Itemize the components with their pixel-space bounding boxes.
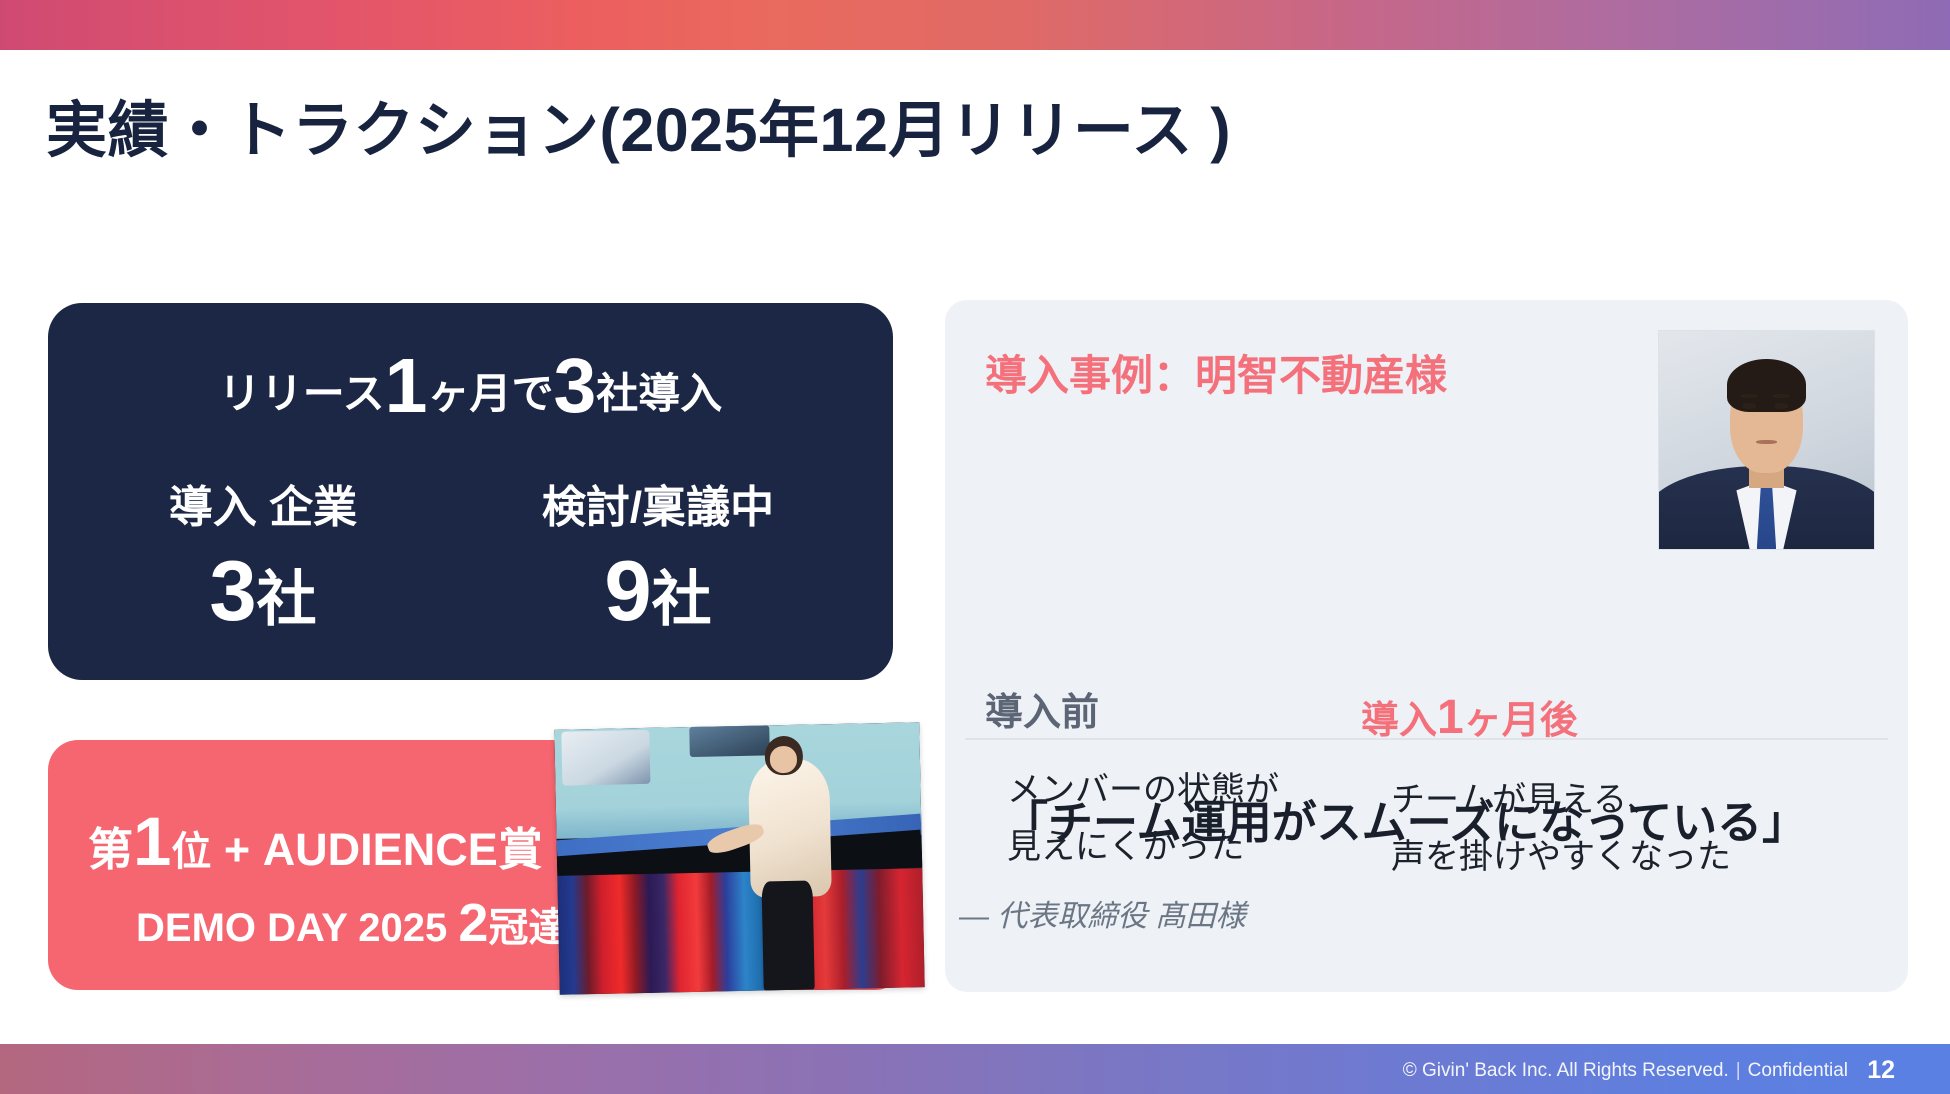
page-title: 実績・トラクション(2025年12月リリース ) bbox=[46, 80, 1231, 169]
quote-attribution: — 代表取締役 髙田様 bbox=[959, 891, 1246, 935]
portrait-eyebrow-right bbox=[1773, 394, 1790, 398]
stats-headline: リリース1ヶ月で3社導入 bbox=[48, 348, 893, 425]
stats-headline-number-1: 1 bbox=[385, 343, 428, 429]
stats-headline-middle: ヶ月で bbox=[427, 370, 553, 417]
stat-label-adopted: 導入 企業 bbox=[53, 471, 473, 535]
footer-legal-text: © Givin' Back Inc. All Rights Reserved.|… bbox=[1403, 1060, 1848, 1082]
photo-speaker-legs bbox=[762, 881, 815, 991]
stat-value-pipeline: 9社 bbox=[448, 549, 868, 634]
footer-classification: Confidential bbox=[1748, 1060, 1848, 1081]
footer-copyright: © Givin' Back Inc. All Rights Reserved. bbox=[1403, 1060, 1729, 1081]
top-gradient-bar bbox=[0, 0, 1950, 50]
slide-canvas: 実績・トラクション(2025年12月リリース ) リリース1ヶ月で3社導入 導入… bbox=[0, 0, 1950, 1094]
stats-headline-prefix: リリース bbox=[219, 370, 385, 417]
award-plus-audience: + AUDIENCE bbox=[224, 824, 498, 875]
award-rank-number: 1 bbox=[133, 803, 171, 880]
stats-headline-number-2: 3 bbox=[553, 343, 596, 429]
stat-number-adopted: 3 bbox=[209, 544, 256, 639]
photo-speaker-face bbox=[769, 746, 797, 773]
portrait-hair bbox=[1727, 359, 1807, 411]
stats-card: リリース1ヶ月で3社導入 導入 企業 3社 検討/稟議中 9社 bbox=[48, 303, 893, 680]
stat-unit-adopted: 社 bbox=[257, 566, 317, 633]
stat-unit-pipeline: 社 bbox=[652, 566, 712, 633]
section-divider bbox=[965, 738, 1888, 740]
award-suffix: 賞 bbox=[498, 824, 543, 875]
stats-headline-suffix: 社導入 bbox=[596, 370, 722, 417]
portrait-eyebrow-left bbox=[1741, 394, 1758, 398]
photo-screen-figure-left bbox=[562, 730, 651, 786]
award-subline: DEMO DAY 2025 2冠達成 bbox=[136, 892, 608, 954]
slide-page-number: 12 bbox=[1867, 1056, 1895, 1085]
stat-column-adopted: 導入 企業 3社 bbox=[53, 471, 473, 634]
customer-executive-portrait bbox=[1658, 330, 1875, 550]
stat-column-pipeline: 検討/稟議中 9社 bbox=[448, 471, 868, 634]
award-headline: 第1位 + AUDIENCE賞 bbox=[88, 802, 543, 881]
after-heading-suffix: ヶ月後 bbox=[1464, 700, 1578, 742]
award-event-name: DEMO DAY 2025 bbox=[136, 906, 447, 950]
stat-value-adopted: 3社 bbox=[53, 549, 473, 634]
photo-screen-figure-right bbox=[689, 725, 770, 757]
award-rank-prefix: 第 bbox=[88, 824, 133, 875]
award-rank-unit: 位 bbox=[171, 830, 211, 874]
after-heading: 導入1ヶ月後 bbox=[1361, 694, 1881, 742]
photo-stage-lights bbox=[557, 868, 924, 995]
customer-quote: 「チーム運用がスムーズになっている」 bbox=[1003, 786, 1807, 851]
stat-number-pipeline: 9 bbox=[604, 544, 651, 639]
case-study-title: 導入事例：明智不動産様 bbox=[985, 342, 1447, 403]
portrait-eye-left bbox=[1743, 403, 1756, 409]
after-heading-prefix: 導入 bbox=[1361, 700, 1437, 742]
stage-presentation-photo bbox=[554, 722, 924, 995]
stat-label-pipeline: 検討/稟議中 bbox=[448, 471, 868, 535]
award-crown-count: 2 bbox=[458, 893, 488, 953]
before-heading: 導入前 bbox=[985, 694, 1405, 732]
footer-separator: | bbox=[1736, 1060, 1741, 1081]
case-study-panel: 導入事例：明智不動産様 導入前 メンバーの状態が 見えにくかった 導入1ヶ月後 … bbox=[945, 300, 1908, 992]
after-heading-number: 1 bbox=[1437, 691, 1464, 744]
portrait-eye-right bbox=[1775, 403, 1788, 409]
